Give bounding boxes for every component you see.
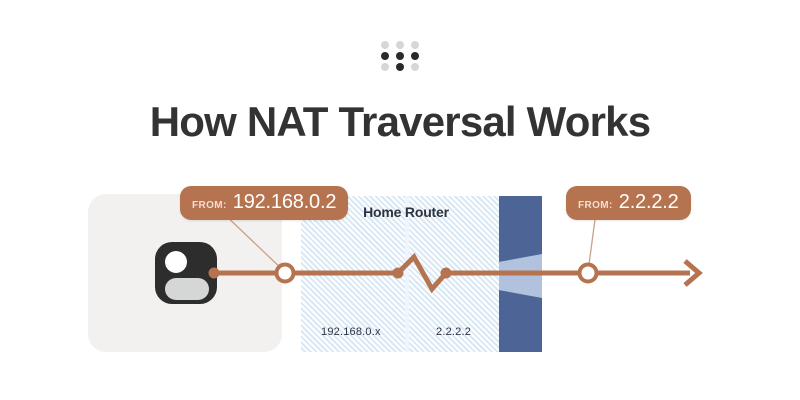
logo-dot-0-1 bbox=[396, 41, 404, 49]
internet-beam-shape bbox=[499, 254, 542, 298]
dot-grid-logo bbox=[378, 40, 422, 72]
internet-panel bbox=[499, 196, 542, 352]
leader-line-wan bbox=[588, 212, 596, 272]
logo-dot-2-0 bbox=[381, 63, 389, 71]
diagram-stage: Home Router 192.168.0.x 2.2.2.2 bbox=[0, 160, 800, 400]
user-device-icon bbox=[155, 242, 217, 304]
badge-value-lan: 192.168.0.2 bbox=[233, 191, 336, 214]
badge-prefix-wan: FROM: bbox=[578, 200, 613, 211]
router-wan-label: 2.2.2.2 bbox=[436, 326, 471, 338]
logo-dot-2-2 bbox=[411, 63, 419, 71]
badge-value-wan: 2.2.2.2 bbox=[619, 191, 679, 214]
wan-endpoint-node bbox=[580, 265, 597, 282]
nat-traversal-infographic: How NAT Traversal Works Home Router 192.… bbox=[0, 0, 800, 400]
logo-dot-0-2 bbox=[411, 41, 419, 49]
router-lan-label: 192.168.0.x bbox=[321, 326, 381, 338]
avatar-body-shape bbox=[165, 278, 209, 300]
logo-dot-1-0 bbox=[381, 52, 389, 60]
from-address-badge-wan: FROM: 2.2.2.2 bbox=[566, 186, 691, 220]
logo-dot-2-1 bbox=[396, 63, 404, 71]
logo-dot-1-1 bbox=[396, 52, 404, 60]
logo-dot-1-2 bbox=[411, 52, 419, 60]
page-title: How NAT Traversal Works bbox=[0, 96, 800, 148]
avatar-head-shape bbox=[165, 251, 187, 273]
from-address-badge-lan: FROM: 192.168.0.2 bbox=[180, 186, 348, 220]
badge-prefix-lan: FROM: bbox=[192, 200, 227, 211]
logo-dot-0-0 bbox=[381, 41, 389, 49]
arrow-head-icon bbox=[685, 261, 699, 285]
